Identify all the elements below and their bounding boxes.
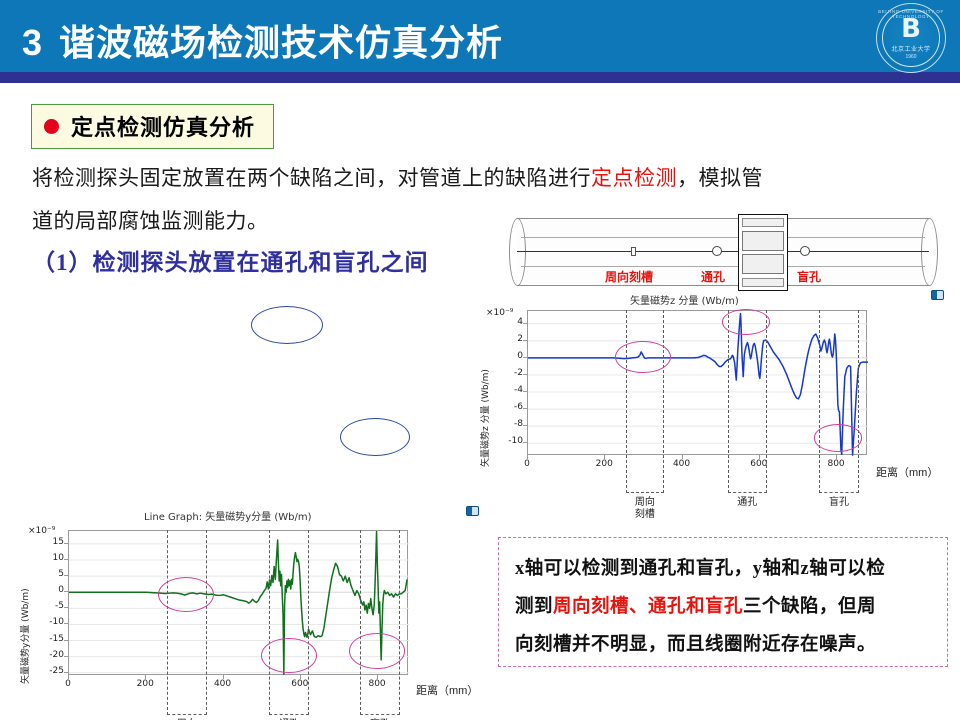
- z-component-ytick: -4: [499, 385, 523, 395]
- z-component-defect-band-label-line: 盲孔: [816, 497, 862, 509]
- tick-mark: [68, 675, 69, 679]
- defect-through-hole-icon: [712, 246, 722, 256]
- chart-y-component: Line Graph: 矢量磁势y分量 (Wb/m) ×10⁻⁹ 矢量磁势y分量…: [4, 500, 489, 718]
- chart-z-component: 矢量磁势z 分量 (Wb/m) ×10⁻⁹ 矢量磁势z 分量 (Wb/m) 距离…: [470, 292, 950, 507]
- pipe-label-slot: 周向刻槽: [605, 268, 653, 285]
- tick-mark: [64, 575, 68, 576]
- conclusion-line-3: 向刻槽并不明显，而且线圈附近存在噪声。: [515, 626, 933, 664]
- y-component-ytick: -5: [40, 601, 64, 611]
- chart-z-export-icon[interactable]: [931, 290, 944, 300]
- header-accent-strip: [0, 72, 960, 83]
- pipe-inner-line-top: [521, 237, 925, 238]
- chart-z-x-axis-label: 距离（mm）: [876, 464, 938, 480]
- logo-ring-text: BEIJING UNIVERSITY OF TECHNOLOGY: [877, 9, 945, 19]
- detection-coil: [738, 214, 788, 291]
- coil-band: [742, 254, 784, 274]
- z-component-defect-band-label: 通孔: [724, 497, 770, 509]
- chart-y-x-axis-label: 距离（mm）: [416, 682, 478, 698]
- y-component-ytick: -15: [40, 634, 64, 644]
- conclusion-line2-highlight: 周向刻槽、通孔和盲孔: [553, 597, 743, 617]
- tick-mark: [64, 559, 68, 560]
- tick-mark: [523, 374, 527, 375]
- logo-year: 1960: [905, 54, 916, 60]
- page-title: 3谐波磁场检测技术仿真分析: [22, 14, 503, 66]
- pipe-label-through-hole: 通孔: [701, 268, 725, 285]
- conclusion-line2-b: 三个缺陷，但周: [743, 597, 876, 617]
- section-title-text: 谐波磁场检测技术仿真分析: [59, 22, 503, 63]
- y-component-annotation-ellipse: [349, 633, 405, 668]
- y-component-ytick: 5: [40, 569, 64, 579]
- body-paragraph-line1: 将检测探头固定放置在两个缺陷之间，对管道上的缺陷进行定点检测，模拟管: [32, 160, 932, 198]
- z-component-defect-band: [819, 310, 860, 493]
- slide-root: 3谐波磁场检测技术仿真分析 BEIJING UNIVERSITY OF TECH…: [0, 0, 960, 720]
- conclusion-box: x轴可以检测到通孔和盲孔，y轴和z轴可以检 测到周向刻槽、通孔和盲孔三个缺陷，但…: [498, 537, 948, 667]
- y-component-xtick: 400: [208, 679, 238, 689]
- z-component-annotation-ellipse: [615, 341, 671, 373]
- z-component-ytick: -2: [499, 368, 523, 378]
- tick-mark: [523, 425, 527, 426]
- annotation-ellipse-blue-2: [340, 418, 410, 456]
- body-text-b: ，模拟管: [677, 167, 763, 190]
- y-component-ytick: 0: [40, 585, 64, 595]
- pipe-inner-line-bottom: [521, 266, 925, 267]
- body-text-highlight: 定点检测: [591, 167, 677, 190]
- tick-mark: [64, 591, 68, 592]
- university-logo: BEIJING UNIVERSITY OF TECHNOLOGY B 北京工业大…: [876, 3, 946, 73]
- tick-mark: [64, 672, 68, 673]
- chart-z-y-axis-label: 矢量磁势z 分量 (Wb/m): [478, 369, 491, 467]
- chart-y-y-exponent: ×10⁻⁹: [28, 526, 55, 536]
- z-component-defect-band-label: 周向刻槽: [622, 497, 668, 521]
- tick-mark: [64, 543, 68, 544]
- y-component-ytick: 15: [40, 537, 64, 547]
- tick-mark: [523, 323, 527, 324]
- chart-y-title: Line Graph: 矢量磁势y分量 (Wb/m): [144, 508, 312, 523]
- defect-circumferential-slot-icon: [631, 247, 636, 256]
- z-component-defect-band: [626, 310, 665, 493]
- tick-mark: [64, 656, 68, 657]
- chart-y-y-axis-label: 矢量磁势y分量 (Wb/m): [18, 588, 31, 684]
- y-component-ytick: -20: [40, 650, 64, 660]
- tick-mark: [527, 455, 528, 459]
- annotation-ellipse-blue-1: [251, 306, 323, 344]
- z-component-ytick: 0: [499, 351, 523, 361]
- tick-mark: [223, 675, 224, 679]
- z-component-defect-band: [728, 310, 767, 493]
- conclusion-line-1: x轴可以检测到通孔和盲孔，y轴和z轴可以检: [515, 550, 933, 588]
- coil-band: [742, 231, 784, 251]
- z-component-ytick: 4: [499, 317, 523, 327]
- conclusion-line2-a: 测到: [515, 597, 553, 617]
- defect-blind-hole-icon: [800, 246, 810, 256]
- tick-mark: [682, 455, 683, 459]
- pipe-label-blind-hole: 盲孔: [797, 268, 821, 285]
- coil-band: [742, 218, 784, 227]
- y-component-annotation-ellipse: [261, 638, 317, 673]
- y-component-ytick: 10: [40, 553, 64, 563]
- z-component-ytick: 2: [499, 334, 523, 344]
- section-heading-label: 定点检测仿真分析: [71, 110, 255, 142]
- pipe-cap-left: [509, 218, 526, 286]
- z-component-defect-band-label-line: 通孔: [724, 497, 770, 509]
- z-component-defect-band-label-line: 刻槽: [622, 509, 668, 521]
- y-component-defect-band: [167, 530, 208, 715]
- tick-mark: [145, 675, 146, 679]
- chart-z-title: 矢量磁势z 分量 (Wb/m): [630, 292, 739, 307]
- body-text-a: 将检测探头固定放置在两个缺陷之间，对管道上的缺陷进行: [32, 167, 591, 190]
- z-component-xtick: 200: [589, 459, 619, 469]
- logo-mark: B: [901, 16, 921, 42]
- tick-mark: [523, 357, 527, 358]
- z-component-xtick: 0: [512, 459, 542, 469]
- tick-mark: [523, 408, 527, 409]
- pipe-cap-right: [921, 218, 938, 286]
- y-component-annotation-ellipse: [158, 577, 214, 612]
- pipe-centerline: [517, 251, 929, 252]
- y-component-xtick: 200: [130, 679, 160, 689]
- coil-band: [742, 278, 784, 287]
- bullet-dot-icon: [44, 119, 59, 134]
- tick-mark: [64, 640, 68, 641]
- z-component-ytick: -6: [499, 402, 523, 412]
- conclusion-line-2: 测到周向刻槽、通孔和盲孔三个缺陷，但周: [515, 588, 933, 626]
- logo-cn-name: 北京工业大学: [891, 44, 930, 53]
- tick-mark: [64, 623, 68, 624]
- section-number: 3: [22, 22, 43, 63]
- z-component-defect-band-label-line: 周向: [622, 497, 668, 509]
- z-component-annotation-ellipse: [722, 309, 771, 335]
- z-component-annotation-ellipse: [814, 424, 863, 451]
- tick-mark: [523, 442, 527, 443]
- y-component-ytick: -10: [40, 617, 64, 627]
- z-component-xtick: 400: [667, 459, 697, 469]
- tick-mark: [523, 340, 527, 341]
- y-component-xtick: 0: [53, 679, 83, 689]
- y-component-defect-band: [269, 530, 310, 715]
- section-heading-box: 定点检测仿真分析: [31, 104, 274, 149]
- z-component-defect-band-label: 盲孔: [816, 497, 862, 509]
- tick-mark: [523, 391, 527, 392]
- chart-y-export-icon[interactable]: [466, 506, 479, 516]
- tick-mark: [604, 455, 605, 459]
- y-component-ytick: -25: [40, 666, 64, 676]
- z-component-ytick: -10: [499, 436, 523, 446]
- sub-heading: （1）检测探头放置在通孔和盲孔之间: [32, 243, 429, 277]
- z-component-ytick: -8: [499, 419, 523, 429]
- y-component-defect-band: [360, 530, 401, 715]
- tick-mark: [64, 607, 68, 608]
- pipe-diagram: 周向刻槽 通孔 盲孔: [505, 210, 950, 295]
